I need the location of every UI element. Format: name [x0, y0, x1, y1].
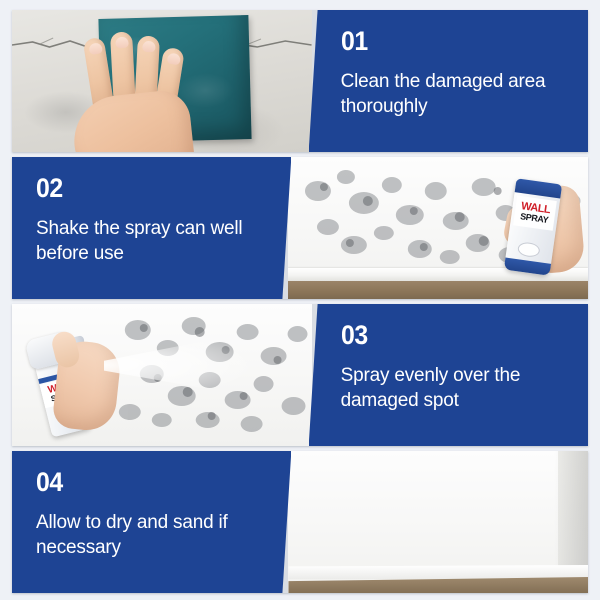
step-photo-clean-white-wall-result [288, 451, 588, 593]
step-photo-hand-holding-spray-bottle: WALL SPRAY [288, 157, 588, 299]
step-number-02: 02 [36, 175, 238, 202]
hand-graphic [62, 38, 202, 152]
floor [288, 281, 588, 299]
infographic-board: 01 Clean the damaged area thoroughly [0, 0, 600, 600]
step-text-04: Allow to dry and sand if necessary [36, 510, 255, 560]
step-panel-04: 04 Allow to dry and sand if necessary [12, 451, 588, 593]
step-photo-spraying-mouldy-wall: WALL SPRAY [12, 304, 312, 446]
step-copy-02: 02 Shake the spray can well before use [12, 157, 291, 299]
step-text-03: Spray evenly over the damaged spot [341, 363, 570, 413]
step-number-01: 01 [341, 28, 552, 55]
bottle-label: WALL SPRAY [513, 195, 557, 230]
bottle-label-spray: SPRAY [520, 212, 549, 225]
step-copy-03: 03 Spray evenly over the damaged spot [309, 304, 588, 446]
baseboard [288, 565, 588, 579]
step-text-01: Clean the damaged area thoroughly [341, 69, 570, 119]
step-copy-01: 01 Clean the damaged area thoroughly [309, 10, 588, 152]
step-copy-04: 04 Allow to dry and sand if necessary [12, 451, 291, 593]
step-panel-02: WALL SPRAY 02 Shake the spray can well b… [12, 157, 588, 299]
step-number-04: 04 [36, 469, 238, 496]
step-photo-hand-sanding-cracked-wall [12, 10, 312, 152]
step-panel-03: WALL SPRAY 03 Spray evenly over the dama… [12, 304, 588, 446]
step-text-02: Shake the spray can well before use [36, 216, 255, 266]
step-panel-01: 01 Clean the damaged area thoroughly [12, 10, 588, 152]
step-number-03: 03 [341, 322, 552, 349]
